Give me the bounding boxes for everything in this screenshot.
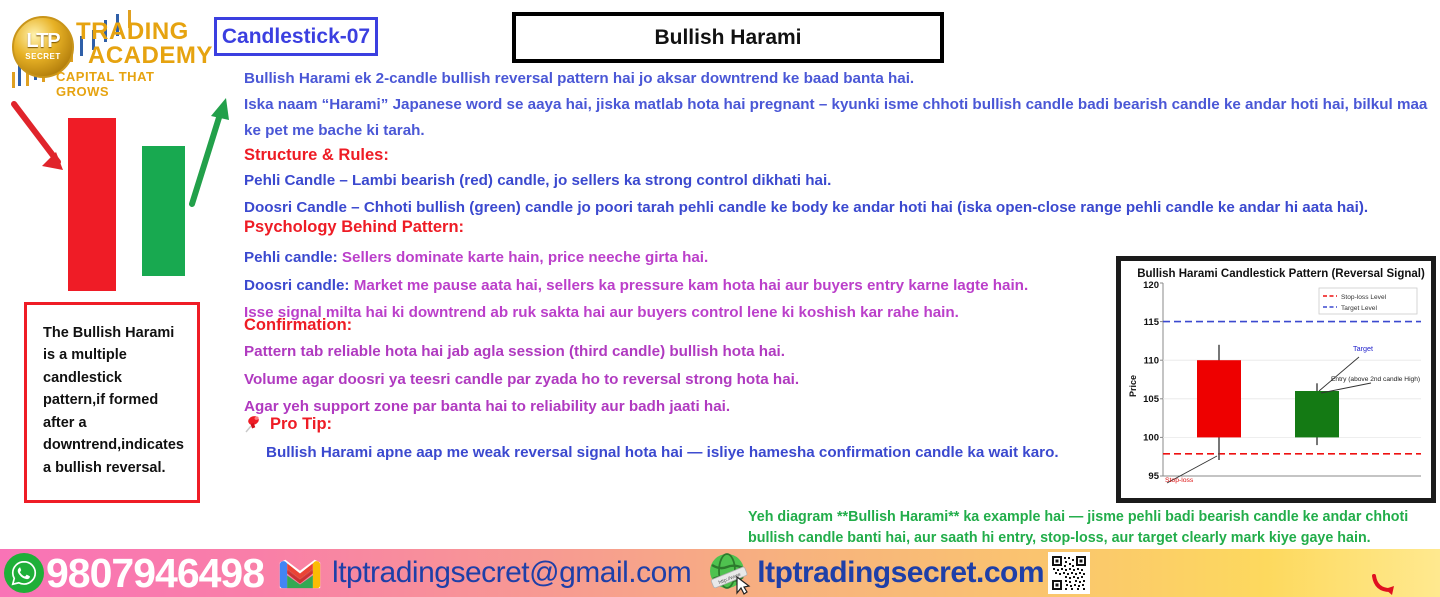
globe-icon: http://www xyxy=(703,551,755,595)
lesson-tag-label: Candlestick-07 xyxy=(222,25,370,49)
diagram-caption: Yeh diagram **Bullish Harami** ka exampl… xyxy=(748,507,1438,550)
chart-annotation-target: Target xyxy=(1353,344,1373,353)
svg-text:115: 115 xyxy=(1144,317,1160,328)
downtrend-arrow-icon xyxy=(14,104,63,170)
confirmation-line-2: Volume agar doosri ya teesri candle par … xyxy=(244,368,1144,393)
logo-word-academy: ACADEMY xyxy=(88,42,213,70)
pattern-illustration xyxy=(0,96,230,296)
logo-coin-line1: LTP xyxy=(26,31,59,51)
website-url[interactable]: ltptradingsecret.com xyxy=(757,556,1044,590)
logo-coin-line2: SECRET xyxy=(25,51,60,62)
svg-text:120: 120 xyxy=(1143,280,1159,291)
confirmation-section: Pattern tab reliable hota hai jab agla s… xyxy=(244,340,1144,423)
psychology-section: Pehli candle: Sellers dominate karte hai… xyxy=(244,246,1124,329)
chart-annotation-stoploss: Stop-loss xyxy=(1165,477,1194,484)
pro-tip-heading-row: Pro Tip: xyxy=(244,414,332,434)
chart-annotation-entry: Entry (above 2nd candle High) xyxy=(1331,376,1420,383)
bearish-candle-body xyxy=(68,118,116,291)
pattern-definition-box: The Bullish Harami is a multiple candles… xyxy=(24,302,200,503)
whatsapp-icon[interactable] xyxy=(4,553,44,593)
page-title: Bullish Harami xyxy=(654,26,801,50)
psychology-line-1-text: Sellers dominate karte hain, price neech… xyxy=(338,249,709,266)
confirmation-heading: Confirmation: xyxy=(244,316,352,335)
chart-ylabel: Price xyxy=(1128,375,1138,397)
structure-rules-heading: Structure & Rules: xyxy=(244,146,1434,165)
psychology-line-3: Isse signal milta hai ki downtrend ab ru… xyxy=(244,301,1124,326)
phone-number[interactable]: 9807946498 xyxy=(46,553,264,594)
psychology-line-2: Doosri candle: Market me pause aata hai,… xyxy=(244,274,1124,299)
chart-candle-bullish xyxy=(1295,383,1339,445)
candlestick-chart-frame: Bullish Harami Candlestick Pattern (Reve… xyxy=(1116,256,1436,503)
chart-legend: Stop-loss Level Target Level xyxy=(1319,288,1417,314)
page-title-box: Bullish Harami xyxy=(512,12,944,63)
psychology-line-2-text: Market me pause aata hai, sellers ka pre… xyxy=(350,277,1029,294)
contact-footer: 9807946498 ltptradingsecret@gmail.com ht… xyxy=(0,549,1440,597)
svg-text:105: 105 xyxy=(1143,394,1160,405)
email-address[interactable]: ltptradingsecret@gmail.com xyxy=(332,556,691,590)
bullish-candle-body xyxy=(142,146,185,276)
psychology-line-1: Pehli candle: Sellers dominate karte hai… xyxy=(244,246,1124,271)
structure-rule-1: Pehli Candle – Lambi bearish (red) candl… xyxy=(244,169,1434,194)
intro-line-1: Bullish Harami ek 2-candle bullish rever… xyxy=(244,66,1434,92)
brand-logo: LTP SECRET TRADING ACADEMY CAPITAL THAT … xyxy=(4,6,209,90)
chart-legend-label-1: Target Level xyxy=(1341,305,1377,312)
chart-candle-2-body xyxy=(1295,391,1339,437)
candlestick-chart: Bullish Harami Candlestick Pattern (Reve… xyxy=(1121,261,1431,498)
confirmation-line-1: Pattern tab reliable hota hai jab agla s… xyxy=(244,340,1144,365)
chart-y-ticks: 95 100 105 110 115 120 xyxy=(1143,280,1163,482)
chart-ytick-95: 95 xyxy=(1148,471,1159,482)
svg-text:110: 110 xyxy=(1144,355,1159,366)
psychology-line-1-label: Pehli candle: xyxy=(244,249,338,266)
pro-tip-heading: Pro Tip: xyxy=(270,415,332,434)
reversal-up-arrow-icon xyxy=(192,98,229,204)
chart-legend-label-0: Stop-loss Level xyxy=(1341,294,1387,301)
chart-candle-1-body xyxy=(1197,360,1241,437)
chart-svg: Bullish Harami Candlestick Pattern (Reve… xyxy=(1121,261,1431,498)
chart-candle-bearish xyxy=(1197,345,1241,460)
chart-title: Bullish Harami Candlestick Pattern (Reve… xyxy=(1137,268,1425,280)
pro-tip-body: Bullish Harami apne aap me weak reversal… xyxy=(266,441,1166,466)
psychology-heading: Psychology Behind Pattern: xyxy=(244,218,464,237)
logo-tagline: CAPITAL THAT GROWS xyxy=(56,69,209,99)
red-swoosh-arrow-icon xyxy=(1372,574,1398,596)
structure-rule-2: Doosri Candle – Chhoti bullish (green) c… xyxy=(244,196,1434,221)
psychology-line-2-label: Doosri candle: xyxy=(244,277,350,294)
intro-paragraph: Bullish Harami ek 2-candle bullish rever… xyxy=(244,66,1434,144)
pushpin-icon xyxy=(244,414,262,434)
structure-rules-section: Structure & Rules: Pehli Candle – Lambi … xyxy=(244,146,1434,222)
gmail-icon[interactable] xyxy=(278,557,322,590)
svg-text:100: 100 xyxy=(1143,433,1159,444)
qr-code-icon[interactable] xyxy=(1048,552,1090,594)
intro-line-2: Iska naam “Harami” Japanese word se aaya… xyxy=(244,92,1434,144)
lesson-tag-badge: Candlestick-07 xyxy=(214,17,378,56)
confirmation-line-3: Agar yeh support zone par banta hai to r… xyxy=(244,395,1144,420)
